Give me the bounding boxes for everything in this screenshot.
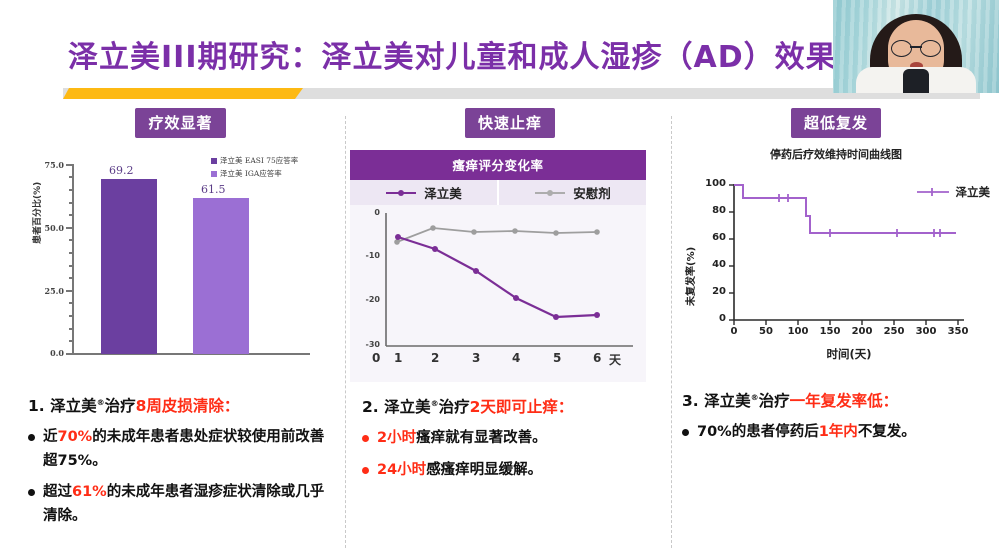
bullet-part-highlight: 70% xyxy=(58,429,93,445)
registered-mark-icon: ® xyxy=(97,398,105,407)
bar-ytick-50: 50.0 xyxy=(36,223,64,233)
bullet-part-highlight: 1年内 xyxy=(819,424,858,440)
glasses-icon xyxy=(891,40,941,55)
step-ytick-60: 60 xyxy=(686,232,726,243)
text-block-efficacy: 1. 泽立美®治疗8周皮损清除： 近70%的未成年患者患处症状较使用前改善超75… xyxy=(28,395,333,528)
heading-highlight: 2天即可止痒 xyxy=(470,398,558,416)
line-xtick-6: 6 xyxy=(593,351,601,365)
heading-number: 2. xyxy=(362,398,379,416)
text-heading-1: 1. 泽立美®治疗8周皮损清除： xyxy=(28,395,333,418)
list-item: 24小时感瘙痒明显缓解。 xyxy=(362,459,662,482)
bar-value-iga: 61.5 xyxy=(201,183,226,196)
step-ytick-80: 80 xyxy=(686,205,726,216)
bullet-text: 24小时感瘙痒明显缓解。 xyxy=(377,459,542,482)
bullet-part: 70%的患者停药后 xyxy=(697,424,819,440)
legend-label: 安慰剂 xyxy=(573,183,611,202)
heading-colon: ： xyxy=(224,397,240,415)
column-divider-1 xyxy=(345,116,346,548)
bar-easi75 xyxy=(101,179,157,354)
heading-colon: ： xyxy=(558,398,574,416)
heading-highlight: 一年复发率低 xyxy=(790,392,883,410)
line-chart-itch: 瘙痒评分变化率 泽立美 安慰剂 xyxy=(350,150,646,382)
bullet-dot-icon xyxy=(362,467,369,474)
section-badge-efficacy: 疗效显著 xyxy=(135,108,225,138)
legend-line-marker-icon xyxy=(534,187,566,199)
line-chart-title: 瘙痒评分变化率 xyxy=(350,150,646,180)
line-xaxis-unit: 天 xyxy=(609,351,621,368)
bar-chart-efficacy: 患者百分比(%) 75.0 50.0 25.0 0.0 xyxy=(36,152,326,377)
bullet-text: 近70%的未成年患者患处症状较使用前改善超75%。 xyxy=(43,426,333,473)
text-block-relapse: 3. 泽立美®治疗一年复发率低： 70%的患者停药后1年内不复发。 xyxy=(682,390,997,445)
list-item: 超过61%的未成年患者湿疹症状清除或几乎清除。 xyxy=(28,481,333,528)
registered-mark-icon: ® xyxy=(751,393,759,402)
legend-item-placebo: 安慰剂 xyxy=(497,180,646,205)
legend-label: 泽立美 xyxy=(424,183,462,202)
step-chart-title: 停药后疗效维持时间曲线图 xyxy=(676,146,996,162)
line-chart-legend: 泽立美 安慰剂 xyxy=(350,180,646,205)
step-chart-xlabel: 时间(天) xyxy=(734,346,964,362)
bullet-dot-icon xyxy=(682,429,689,436)
step-xtick-250: 250 xyxy=(883,326,905,337)
badge-wrap-3: 超低复发 xyxy=(676,108,996,138)
bullet-part-highlight: 24小时 xyxy=(377,462,426,478)
list-item: 2小时瘙痒就有显著改善。 xyxy=(362,427,662,450)
legend-item-iga: 泽立美 IGA应答率 xyxy=(211,168,329,179)
presenter-video-overlay[interactable] xyxy=(833,0,999,93)
step-ytick-0: 0 xyxy=(686,313,726,324)
column-divider-2 xyxy=(671,116,672,548)
badge-wrap-2: 快速止痒 xyxy=(350,108,670,138)
section-badge-relapse: 超低复发 xyxy=(791,108,881,138)
heading-mid: 治疗 xyxy=(759,392,790,410)
heading-number: 3. xyxy=(682,392,699,410)
column-relapse: 超低复发 停药后疗效维持时间曲线图 未复发率(%) 泽立美 xyxy=(676,108,996,559)
heading-mid: 治疗 xyxy=(105,397,136,415)
step-xtick-300: 300 xyxy=(915,326,937,337)
line-xtick-2: 2 xyxy=(431,351,439,365)
bar-iga xyxy=(193,198,249,354)
heading-number: 1. xyxy=(28,397,45,415)
step-ytick-20: 20 xyxy=(686,286,726,297)
heading-brand: 泽立美 xyxy=(704,392,751,410)
legend-item-drug: 泽立美 xyxy=(350,180,497,205)
line-ytick-m20: -20 xyxy=(358,295,380,304)
bullet-part: 超过 xyxy=(43,484,72,500)
legend-label: 泽立美 EASI 75应答率 xyxy=(220,155,298,166)
heading-mid: 治疗 xyxy=(439,398,470,416)
line-xtick-0: 0 xyxy=(372,351,380,365)
list-item: 70%的患者停药后1年内不复发。 xyxy=(682,421,997,444)
list-item: 近70%的未成年患者患处症状较使用前改善超75%。 xyxy=(28,426,333,473)
bullet-part: 感瘙痒明显缓解。 xyxy=(426,462,542,478)
bar-ytick-25: 25.0 xyxy=(36,286,64,296)
bullet-part: 不复发。 xyxy=(858,424,916,440)
step-xtick-100: 100 xyxy=(787,326,809,337)
bullet-part-highlight: 2小时 xyxy=(377,430,416,446)
line-xtick-4: 4 xyxy=(512,351,520,365)
text-block-itch: 2. 泽立美®治疗2天即可止痒： 2小时瘙痒就有显著改善。 24小时感瘙痒明显缓… xyxy=(362,396,662,482)
step-xtick-350: 350 xyxy=(947,326,969,337)
bar-ytick-75: 75.0 xyxy=(36,160,64,170)
bar-ytick-0: 0.0 xyxy=(36,348,64,358)
legend-item-easi75: 泽立美 EASI 75应答率 xyxy=(211,155,329,166)
bullet-dot-icon xyxy=(28,434,35,441)
column-itch-relief: 快速止痒 瘙痒评分变化率 泽立美 xyxy=(350,108,670,559)
heading-highlight: 8周皮损清除 xyxy=(136,397,224,415)
heading-brand: 泽立美 xyxy=(384,398,431,416)
bullet-text: 70%的患者停药后1年内不复发。 xyxy=(697,421,916,444)
column-efficacy: 疗效显著 患者百分比(%) 75.0 50.0 25.0 0.0 xyxy=(18,108,343,559)
line-xtick-3: 3 xyxy=(472,351,480,365)
text-heading-3: 3. 泽立美®治疗一年复发率低： xyxy=(682,390,997,413)
line-chart-plot: 0 -10 -20 -30 0 1 2 3 4 5 6 天 xyxy=(350,205,646,375)
step-xtick-50: 50 xyxy=(757,326,775,337)
page-title: 泽立美III期研究：泽立美对儿童和成人湿疹（AD）效果 xyxy=(68,32,837,76)
step-ytick-100: 100 xyxy=(686,178,726,189)
bullet-dot-icon xyxy=(28,489,35,496)
step-xtick-200: 200 xyxy=(851,326,873,337)
slide-root: 泽立美III期研究：泽立美对儿童和成人湿疹（AD）效果 疗效显著 患者百分比(%… xyxy=(0,0,999,559)
line-ytick-0: 0 xyxy=(358,208,380,217)
legend-swatch-icon xyxy=(211,171,217,177)
bar-chart-ylabel: 患者百分比(%) xyxy=(30,182,43,244)
line-xtick-5: 5 xyxy=(553,351,561,365)
badge-wrap-1: 疗效显著 xyxy=(18,108,343,138)
legend-swatch-icon xyxy=(211,158,217,164)
registered-mark-icon: ® xyxy=(431,399,439,408)
legend-line-marker-icon xyxy=(385,187,417,199)
bullet-part: 近 xyxy=(43,429,58,445)
accent-bar-yellow xyxy=(63,88,303,99)
bar-value-easi75: 69.2 xyxy=(109,164,134,177)
bar-chart-plot: 69.2 61.5 xyxy=(73,164,311,354)
step-ytick-40: 40 xyxy=(686,259,726,270)
line-xtick-1: 1 xyxy=(394,351,402,365)
section-badge-itch: 快速止痒 xyxy=(465,108,555,138)
heading-colon: ： xyxy=(883,392,899,410)
content-columns: 疗效显著 患者百分比(%) 75.0 50.0 25.0 0.0 xyxy=(0,108,999,559)
presenter-collar xyxy=(903,69,929,93)
bullet-part: 瘙痒就有显著改善。 xyxy=(416,430,547,446)
line-chart-svg xyxy=(350,205,646,375)
line-ytick-m30: -30 xyxy=(358,340,380,349)
bullet-part-highlight: 61% xyxy=(72,484,107,500)
bullet-text: 超过61%的未成年患者湿疹症状清除或几乎清除。 xyxy=(43,481,333,528)
bar-chart-legend: 泽立美 EASI 75应答率 泽立美 IGA应答率 xyxy=(211,155,329,181)
step-chart-relapse: 停药后疗效维持时间曲线图 未复发率(%) 泽立美 xyxy=(676,146,996,378)
step-xtick-0: 0 xyxy=(726,326,742,337)
bullet-dot-icon xyxy=(362,435,369,442)
legend-label: 泽立美 IGA应答率 xyxy=(220,168,282,179)
bullet-text: 2小时瘙痒就有显著改善。 xyxy=(377,427,547,450)
text-heading-2: 2. 泽立美®治疗2天即可止痒： xyxy=(362,396,662,419)
heading-brand: 泽立美 xyxy=(50,397,97,415)
step-xtick-150: 150 xyxy=(819,326,841,337)
line-ytick-m10: -10 xyxy=(358,251,380,260)
